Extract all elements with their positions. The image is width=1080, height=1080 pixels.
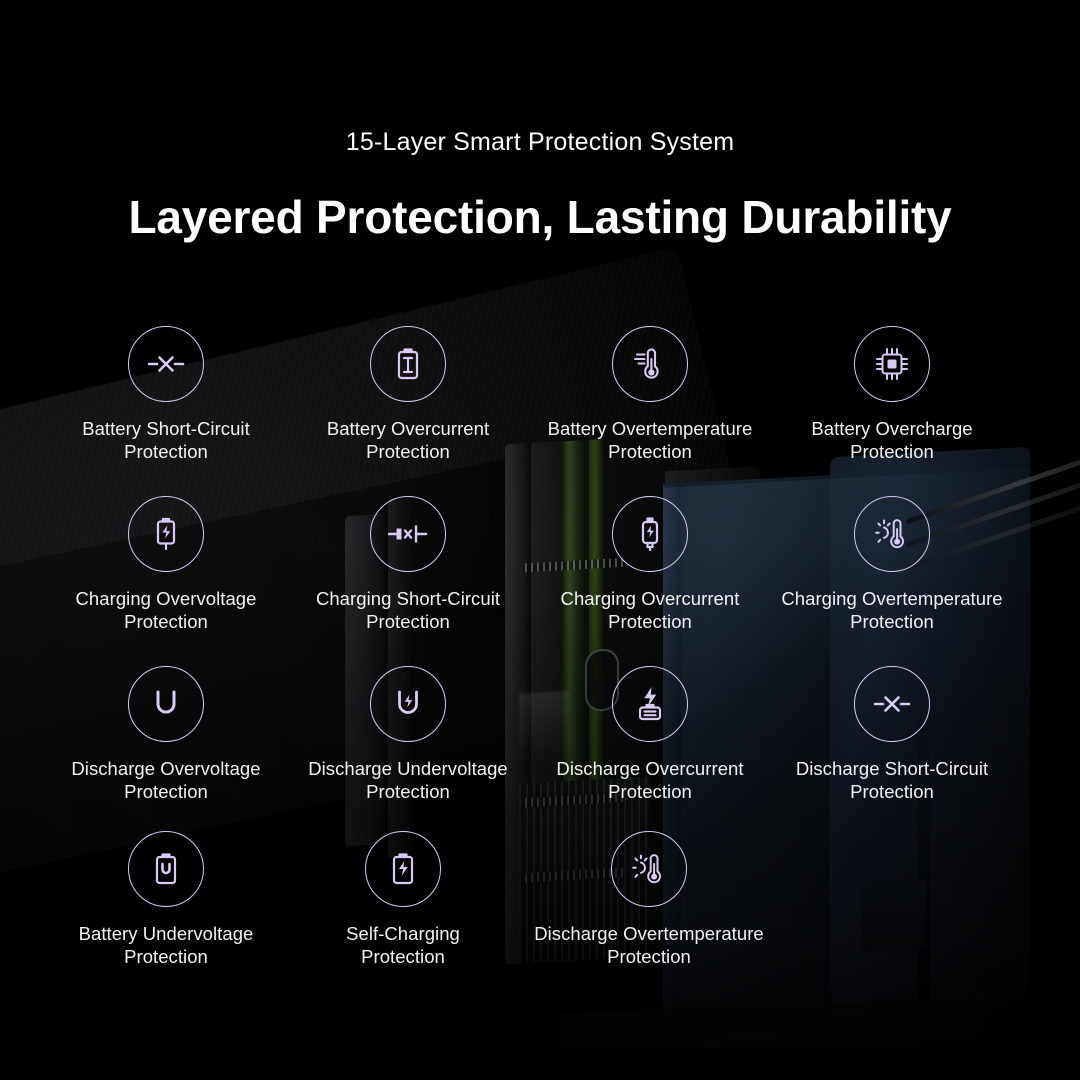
feature-item-battery-short-circuit[interactable]: Battery Short-Circuit Protection [41,326,291,463]
feature-caption: Battery Short-Circuit Protection [41,417,291,463]
caption-line-1: Discharge Overcurrent [556,758,743,779]
caption-line-1: Discharge Short-Circuit [796,758,988,779]
feature-item-self-charging[interactable]: Self-Charging Protection [278,831,528,968]
feature-item-battery-overcurrent[interactable]: Battery Overcurrent Protection [283,326,533,463]
feature-caption: Battery Overtemperature Protection [525,417,775,463]
caption-line-2: Protection [124,441,208,462]
caption-line-2: Protection [124,781,208,802]
feature-caption: Battery Overcharge Protection [767,417,1017,463]
caption-line-2: Protection [608,611,692,632]
feature-item-discharge-overvoltage[interactable]: Discharge Overvoltage Protection [41,666,291,803]
short-circuit-icon [128,326,204,402]
letter-u-bolt-icon [370,666,446,742]
plug-short-circuit-icon [370,496,446,572]
caption-line-1: Discharge Overvoltage [71,758,260,779]
thermometer-lines-icon [612,326,688,402]
feature-item-discharge-overcurrent[interactable]: Discharge Overcurrent Protection [525,666,775,803]
feature-item-discharge-undervoltage[interactable]: Discharge Undervoltage Protection [283,666,533,803]
caption-line-2: Protection [608,781,692,802]
caption-line-1: Battery Overcurrent [327,418,489,439]
caption-line-1: Charging Overtemperature [781,588,1002,609]
feature-caption: Charging Overvoltage Protection [41,587,291,633]
caption-line-1: Charging Short-Circuit [316,588,500,609]
caption-line-1: Self-Charging [346,923,460,944]
battery-bolt-icon [365,831,441,907]
caption-line-2: Protection [608,441,692,462]
feature-item-charging-overvoltage[interactable]: Charging Overvoltage Protection [41,496,291,633]
feature-caption: Charging Overcurrent Protection [525,587,775,633]
feature-item-discharge-short-circuit[interactable]: Discharge Short-Circuit Protection [767,666,1017,803]
feature-item-battery-overcharge[interactable]: Battery Overcharge Protection [767,326,1017,463]
battery-u-icon [128,831,204,907]
caption-line-2: Protection [124,946,208,967]
battery-current-icon [370,326,446,402]
feature-caption: Charging Short-Circuit Protection [283,587,533,633]
sun-thermometer-icon [611,831,687,907]
caption-line-2: Protection [850,781,934,802]
feature-caption: Battery Overcurrent Protection [283,417,533,463]
letter-u-icon [128,666,204,742]
battery-bolt-connector-icon [612,496,688,572]
caption-line-1: Discharge Undervoltage [308,758,508,779]
feature-item-discharge-overtemperature[interactable]: Discharge Overtemperature Protection [524,831,774,968]
caption-line-1: Battery Short-Circuit [82,418,250,439]
feature-item-battery-undervoltage[interactable]: Battery Undervoltage Protection [41,831,291,968]
feature-item-battery-overtemperature[interactable]: Battery Overtemperature Protection [525,326,775,463]
feature-caption: Discharge Overvoltage Protection [41,757,291,803]
caption-line-1: Charging Overvoltage [76,588,257,609]
feature-item-charging-short-circuit[interactable]: Charging Short-Circuit Protection [283,496,533,633]
chip-icon [854,326,930,402]
caption-line-2: Protection [366,611,450,632]
caption-line-1: Battery Overtemperature [548,418,753,439]
caption-line-1: Discharge Overtemperature [534,923,764,944]
caption-line-2: Protection [366,781,450,802]
feature-caption: Self-Charging Protection [278,922,528,968]
feature-caption: Battery Undervoltage Protection [41,922,291,968]
caption-line-1: Battery Undervoltage [79,923,254,944]
caption-line-2: Protection [366,441,450,462]
caption-line-2: Protection [850,441,934,462]
battery-bolt-plug-icon [128,496,204,572]
feature-caption: Discharge Overcurrent Protection [525,757,775,803]
bolt-over-battery-icon [612,666,688,742]
feature-caption: Discharge Short-Circuit Protection [767,757,1017,803]
caption-line-2: Protection [124,611,208,632]
feature-item-charging-overtemperature[interactable]: Charging Overtemperature Protection [767,496,1017,633]
caption-line-1: Charging Overcurrent [561,588,740,609]
feature-caption: Charging Overtemperature Protection [767,587,1017,633]
feature-caption: Discharge Overtemperature Protection [524,922,774,968]
feature-caption: Discharge Undervoltage Protection [283,757,533,803]
caption-line-2: Protection [361,946,445,967]
sun-thermometer-icon [854,496,930,572]
protection-feature-grid: Battery Short-Circuit Protection Battery… [0,0,1080,1080]
caption-line-1: Battery Overcharge [811,418,972,439]
short-circuit-icon [854,666,930,742]
caption-line-2: Protection [607,946,691,967]
caption-line-2: Protection [850,611,934,632]
feature-item-charging-overcurrent[interactable]: Charging Overcurrent Protection [525,496,775,633]
